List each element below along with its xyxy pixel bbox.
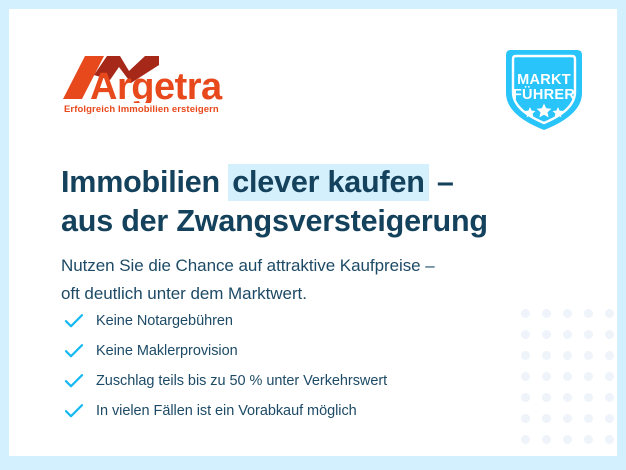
list-item: Keine Notargebühren [64,306,524,336]
dot [605,393,614,402]
dot [563,435,572,444]
argetra-logo-mark: Argetra [63,53,253,103]
dot [584,435,593,444]
dot [584,309,593,318]
list-item-label: In vielen Fällen ist ein Vorabkauf mögli… [96,403,357,419]
headline-line-1: Immobilien clever kaufen – [61,163,561,202]
check-icon [64,371,96,391]
dot [605,309,614,318]
dot [605,351,614,360]
check-icon [64,341,96,361]
markt-fuehrer-badge: MARKT FÜHRER [498,45,590,135]
dot [605,330,614,339]
dot [563,414,572,423]
check-icon [64,311,96,331]
dot [605,372,614,381]
headline-prefix: Immobilien [61,165,228,199]
badge-line1: MARKT [517,72,571,88]
list-item: In vielen Fällen ist ein Vorabkauf mögli… [64,396,524,426]
dot [584,351,593,360]
dot [584,330,593,339]
banner-card: Argetra Erfolgreich Immobilien ersteiger… [9,9,617,456]
list-item: Keine Maklerprovision [64,336,524,366]
dot [521,435,530,444]
dot [584,414,593,423]
dot [605,414,614,423]
dot [605,435,614,444]
svg-text:Argetra: Argetra [90,66,223,103]
subheadline: Nutzen Sie die Chance auf attraktive Kau… [61,252,561,308]
dot [542,309,551,318]
logo-tagline: Erfolgreich Immobilien ersteigern [64,104,219,115]
dot [542,414,551,423]
dot [563,309,572,318]
dot [542,393,551,402]
dot [542,372,551,381]
benefit-list: Keine Notargebühren Keine Maklerprovisio… [64,306,524,426]
promo-banner: Argetra Erfolgreich Immobilien ersteiger… [0,0,626,470]
list-item-label: Keine Notargebühren [96,313,233,329]
list-item-label: Keine Maklerprovision [96,343,238,359]
headline-suffix: – [429,165,454,199]
subheadline-line-2: oft deutlich unter dem Marktwert. [61,280,561,308]
subheadline-line-1: Nutzen Sie die Chance auf attraktive Kau… [61,252,561,280]
dot-grid-decoration [521,309,617,456]
argetra-logo[interactable]: Argetra Erfolgreich Immobilien ersteiger… [63,53,253,119]
headline-highlight: clever kaufen [228,164,428,201]
dot [563,330,572,339]
badge-line2: FÜHRER [513,86,575,103]
page-title: Immobilien clever kaufen – aus der Zwang… [61,163,561,241]
dot [584,372,593,381]
dot [542,330,551,339]
dot [542,351,551,360]
headline-line-2: aus der Zwangsversteigerung [61,202,561,241]
list-item: Zuschlag teils bis zu 50 % unter Verkehr… [64,366,524,396]
check-icon [64,401,96,421]
dot [563,393,572,402]
list-item-label: Zuschlag teils bis zu 50 % unter Verkehr… [96,373,387,389]
dot [584,393,593,402]
dot [542,435,551,444]
dot [563,351,572,360]
dot [563,372,572,381]
